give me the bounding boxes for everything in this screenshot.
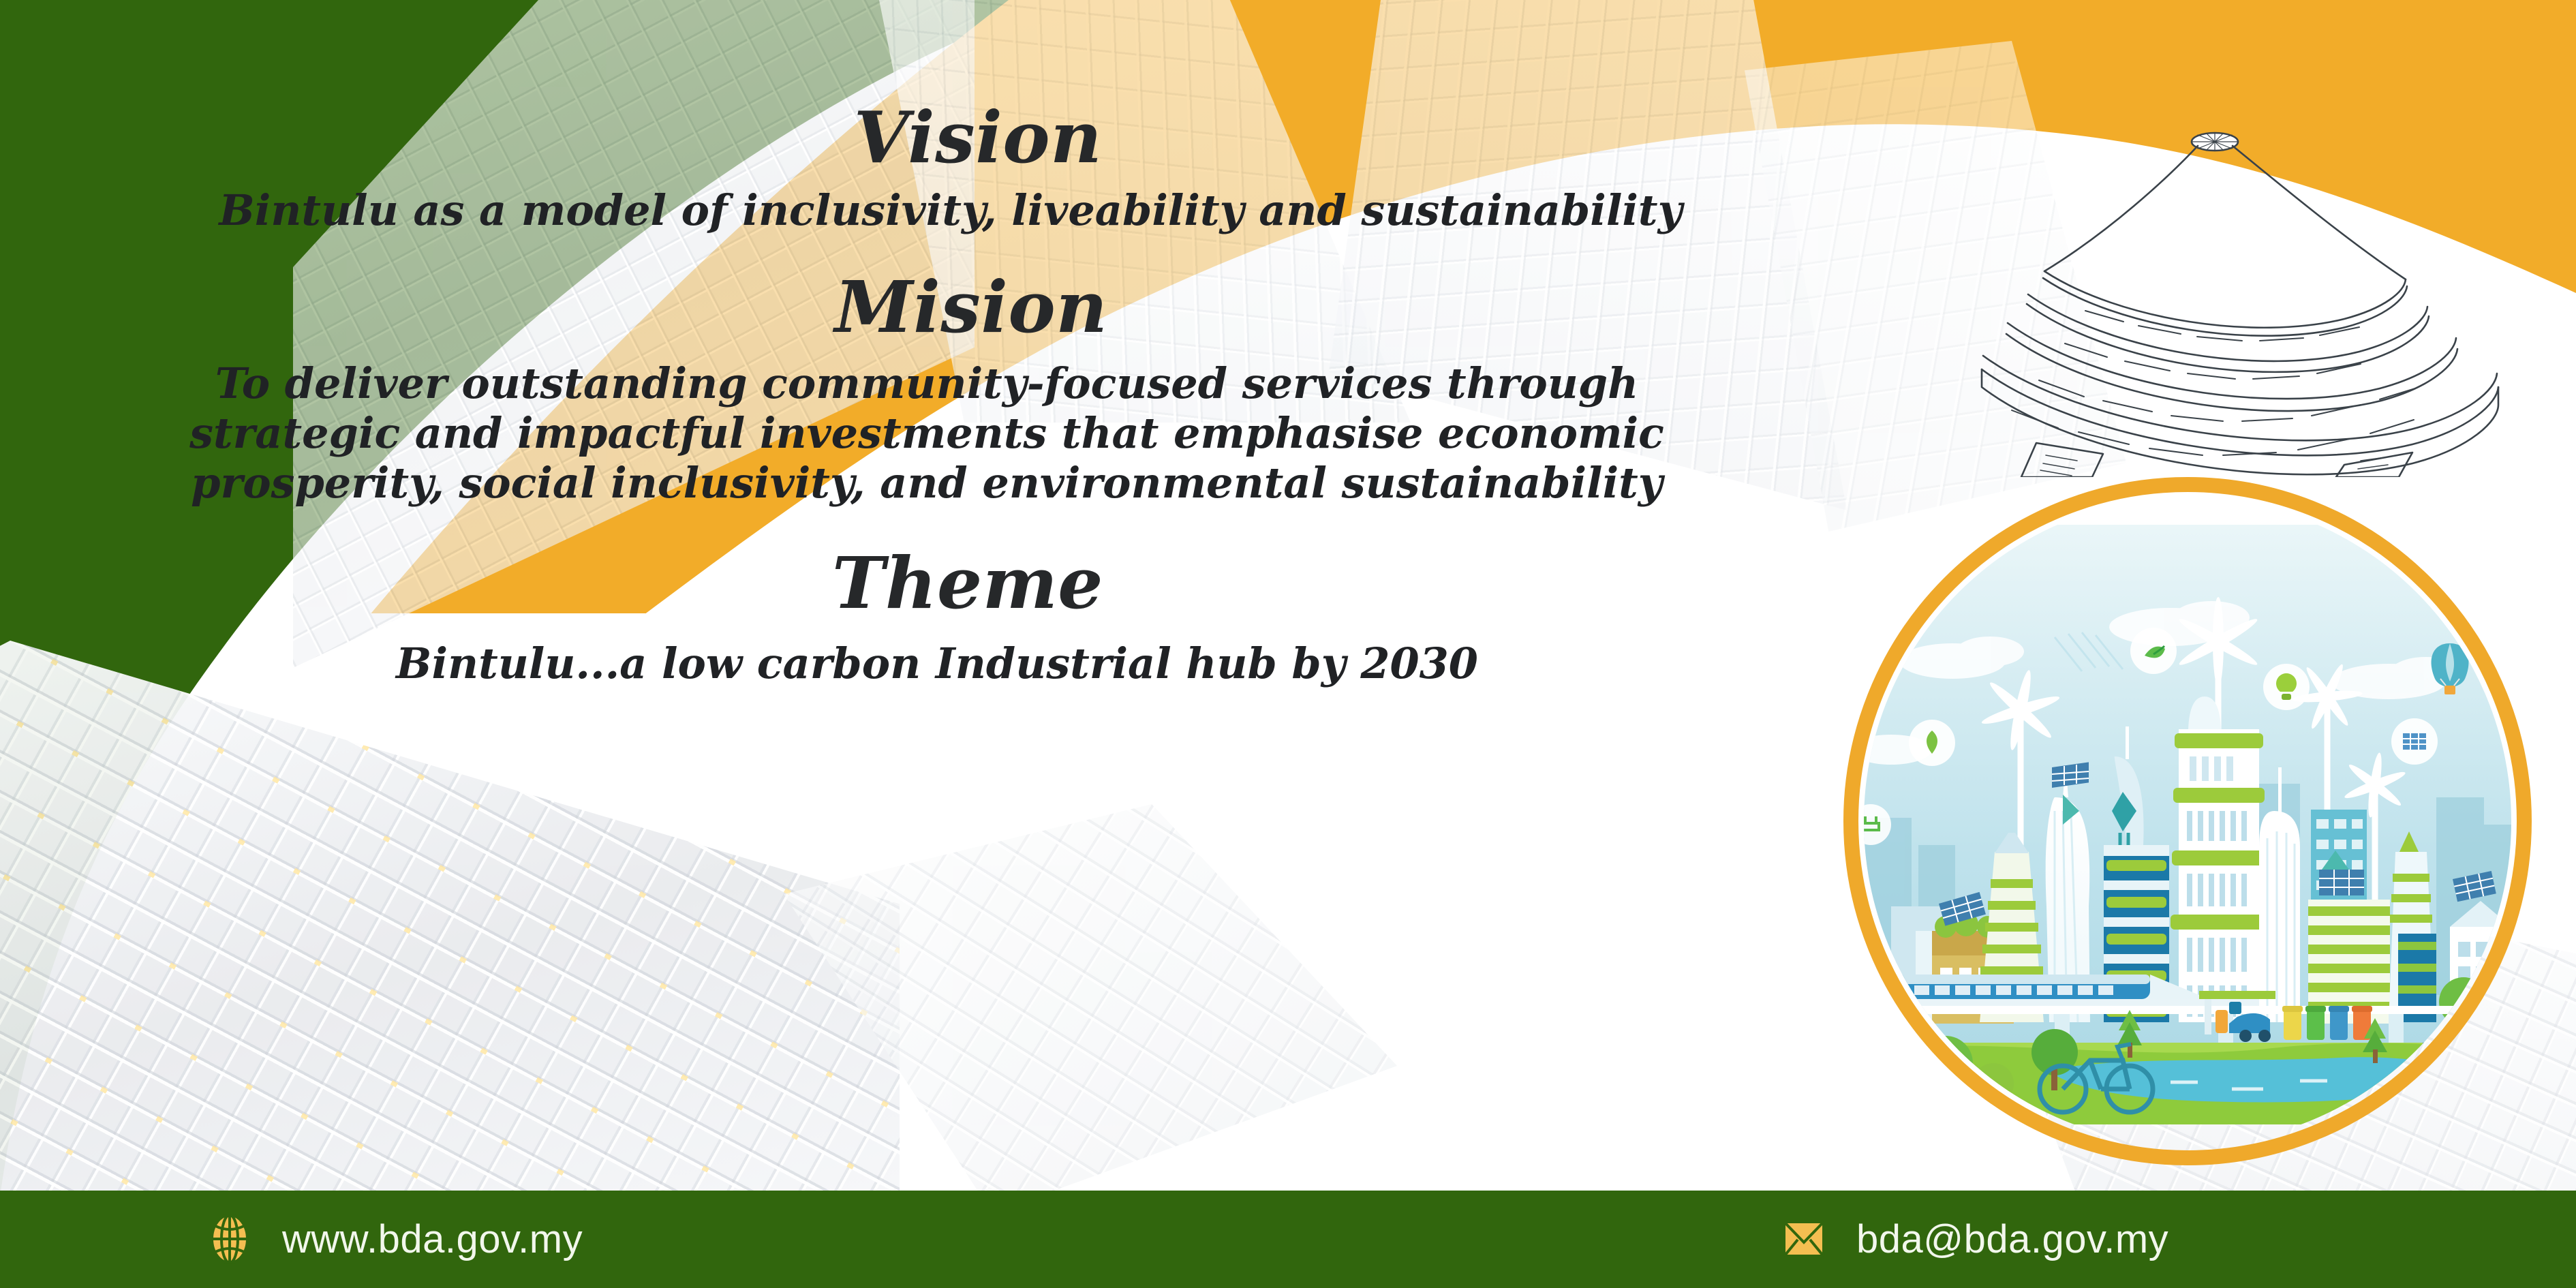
mission-line-3: prosperity, social inclusivity, and envi… — [0, 458, 1854, 508]
mission-line-2: strategic and impactful investments that… — [0, 408, 1854, 458]
dome-building-illustration — [1963, 116, 2549, 477]
vision-body: Bintulu as a model of inclusivity, livea… — [0, 185, 1854, 235]
email-label: bda@bda.gov.my — [1856, 1216, 2168, 1262]
envelope-icon — [1779, 1214, 1829, 1264]
bda-vision-mission-banner: Vision Bintulu as a model of inclusivity… — [0, 0, 2576, 1288]
footer-email[interactable]: bda@bda.gov.my — [1779, 1214, 2168, 1264]
theme-heading: Theme — [0, 541, 1854, 625]
mission-line-1: To deliver outstanding community-focused… — [0, 358, 1854, 408]
vision-heading: Vision — [0, 102, 1854, 173]
content-text-block: Vision Bintulu as a model of inclusivity… — [0, 102, 1854, 688]
mission-heading: Mision — [0, 265, 1854, 349]
globe-icon — [204, 1214, 255, 1264]
footer-website[interactable]: www.bda.gov.my — [204, 1214, 583, 1264]
mission-body: To deliver outstanding community-focused… — [0, 358, 1854, 508]
footer-bar: www.bda.gov.my bda@bda.gov.my — [0, 1191, 2576, 1288]
building-facade-texture-5 — [0, 641, 900, 1213]
eco-city-illustration — [1843, 477, 2532, 1165]
theme-body: Bintulu...a low carbon Industrial hub by… — [0, 639, 1854, 688]
eco-city-ring-border — [1843, 477, 2532, 1165]
website-label: www.bda.gov.my — [282, 1216, 583, 1262]
